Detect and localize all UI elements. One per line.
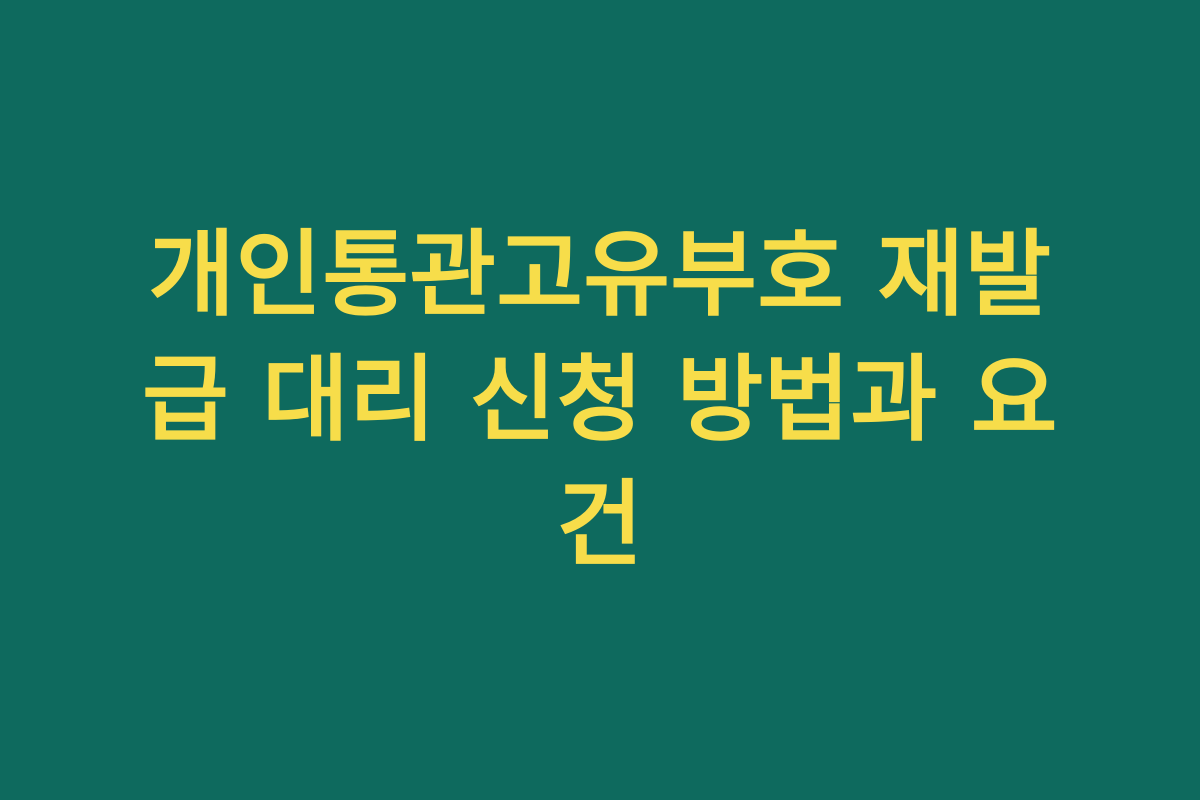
headline-line-1: 개인통관고유부호 재발 bbox=[110, 213, 1090, 338]
headline-line-3: 건 bbox=[110, 463, 1090, 588]
title-card: 개인통관고유부호 재발 급 대리 신청 방법과 요 건 bbox=[0, 0, 1200, 800]
headline-block: 개인통관고유부호 재발 급 대리 신청 방법과 요 건 bbox=[100, 213, 1100, 588]
headline-line-2: 급 대리 신청 방법과 요 bbox=[110, 338, 1090, 463]
